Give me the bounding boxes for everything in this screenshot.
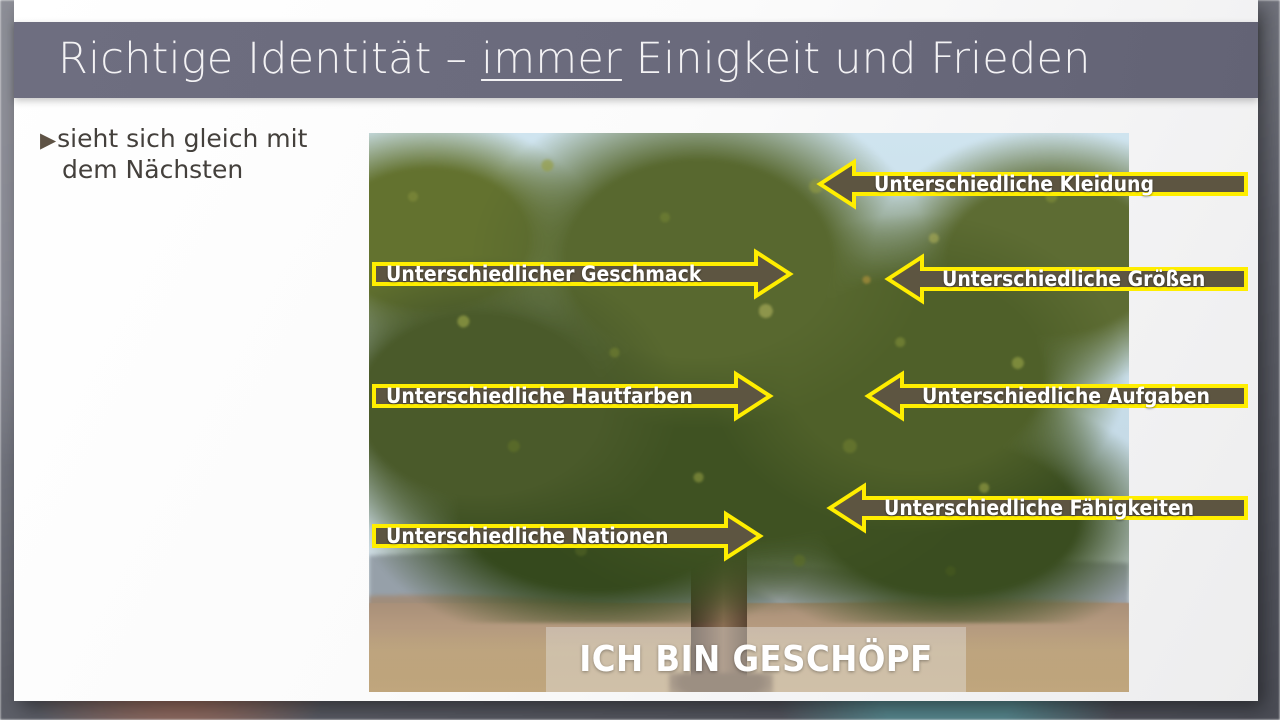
- photo-caption: ICH BIN GESCHÖPF: [546, 627, 966, 692]
- bullet-item-line-2: dem Nächsten: [62, 154, 340, 185]
- slide-title-band: Richtige Identität – immer Einigkeit und…: [14, 22, 1258, 98]
- callout-arrow-nationen[interactable]: Unterschiedliche Nationen: [372, 512, 762, 560]
- slide-title: Richtige Identität – immer Einigkeit und…: [58, 34, 1091, 84]
- bullet-list: ▶sieht sich gleich mit dem Nächsten: [40, 123, 340, 185]
- callout-arrow-hautfarben[interactable]: Unterschiedliche Hautfarben: [372, 372, 772, 420]
- callout-arrow-kleidung[interactable]: Unterschiedliche Kleidung: [818, 160, 1248, 208]
- title-part-2: Einigkeit und Frieden: [622, 34, 1091, 84]
- title-part-1: Richtige Identität –: [58, 34, 481, 84]
- callout-label: Unterschiedliche Nationen: [386, 524, 668, 548]
- callout-label: Unterschiedliche Aufgaben: [922, 384, 1210, 408]
- callout-arrow-faehigkeiten[interactable]: Unterschiedliche Fähigkeiten: [828, 484, 1248, 532]
- callout-label: Unterschiedliche Fähigkeiten: [884, 496, 1194, 520]
- callout-label: Unterschiedliche Kleidung: [874, 172, 1154, 196]
- title-emphasis-immer: immer: [481, 34, 622, 84]
- callout-arrow-groessen[interactable]: Unterschiedliche Größen: [886, 255, 1248, 303]
- callout-arrow-geschmack[interactable]: Unterschiedlicher Geschmack: [372, 250, 792, 298]
- callout-label: Unterschiedliche Größen: [942, 267, 1205, 291]
- callout-label: Unterschiedliche Hautfarben: [386, 384, 693, 408]
- bullet-item-line-1: sieht sich gleich mit: [57, 124, 307, 153]
- callout-arrow-aufgaben[interactable]: Unterschiedliche Aufgaben: [866, 372, 1248, 420]
- triangle-bullet-icon: ▶: [40, 128, 56, 152]
- callout-label: Unterschiedlicher Geschmack: [386, 262, 701, 286]
